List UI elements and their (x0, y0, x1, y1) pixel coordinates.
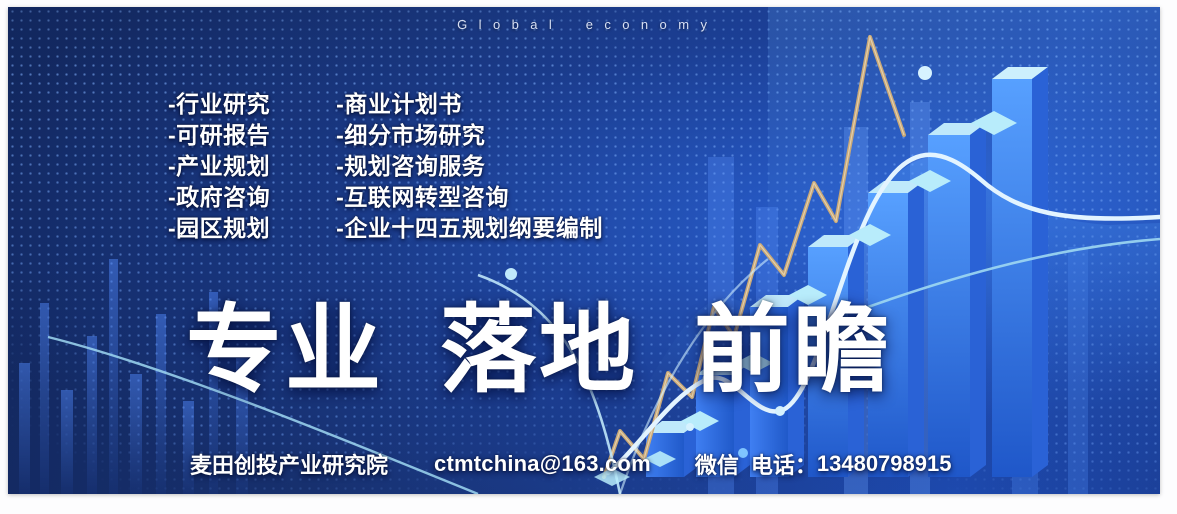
headline-word-3: 前瞻 (694, 303, 892, 399)
service-item: -园区规划 (168, 213, 270, 244)
service-item: -企业十四五规划纲要编制 (336, 213, 603, 244)
services-column-left: -行业研究 -可研报告 -产业规划 -政府咨询 -园区规划 (168, 89, 270, 244)
services-column-right: -商业计划书 -细分市场研究 -规划咨询服务 -互联网转型咨询 -企业十四五规划… (336, 89, 603, 244)
headline-word-1: 专业 (186, 303, 384, 399)
service-item: -产业规划 (168, 151, 270, 182)
headline-word-2: 落地 (440, 303, 638, 399)
service-item: -细分市场研究 (336, 120, 603, 151)
banner-stage: G l o b a l e c o n o m y -行业研究 -可研报告 -产… (0, 0, 1177, 514)
service-item: -可研报告 (168, 120, 270, 151)
service-item: -互联网转型咨询 (336, 182, 603, 213)
contact-email[interactable]: ctmtchina@163.com (434, 451, 651, 477)
service-item: -规划咨询服务 (336, 151, 603, 182)
service-item: -政府咨询 (168, 182, 270, 213)
chart-graphics (8, 7, 1160, 494)
top-strip-global-economy: G l o b a l e c o n o m y (8, 11, 1160, 37)
headline-slogan: 专业 落地 前瞻 (186, 303, 892, 399)
service-item: -商业计划书 (336, 89, 603, 120)
phone-number[interactable]: 13480798915 (817, 451, 952, 477)
marketing-banner: G l o b a l e c o n o m y -行业研究 -可研报告 -产… (8, 7, 1160, 494)
service-item: -行业研究 (168, 89, 270, 120)
wechat-label: 微信 (695, 448, 739, 480)
phone-label: 电话： (751, 448, 817, 480)
services-lists: -行业研究 -可研报告 -产业规划 -政府咨询 -园区规划 -商业计划书 -细分… (168, 89, 603, 244)
organization-name: 麦田创投产业研究院 (190, 448, 388, 480)
footer-contact-bar: 麦田创投产业研究院 ctmtchina@163.com 微信 电话： 13480… (190, 448, 951, 480)
